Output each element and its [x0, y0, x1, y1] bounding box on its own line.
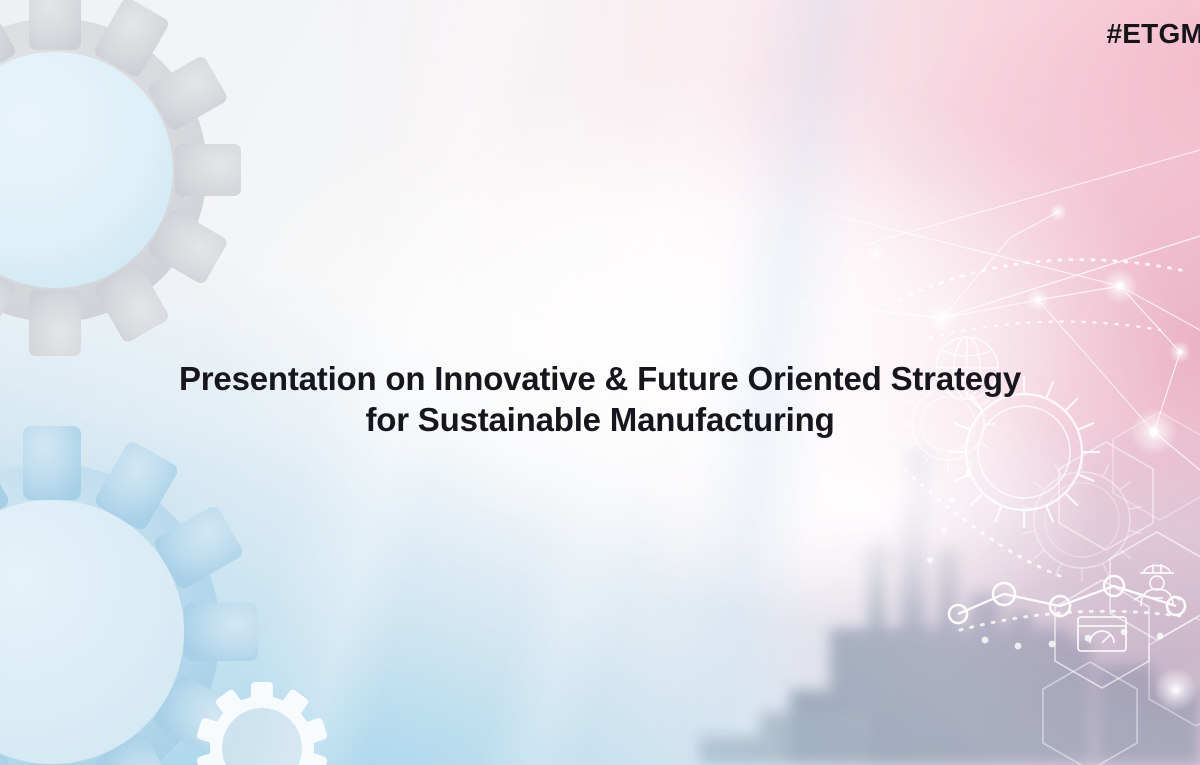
hexagon-tile-plain-lower	[1043, 662, 1137, 765]
event-hashtag: #ETGM	[1107, 18, 1200, 50]
title-line-2: for Sustainable Manufacturing	[40, 399, 1160, 440]
presentation-title-slide: #ETGM Presentation on Innovative & Futur…	[0, 0, 1200, 765]
title-line-1: Presentation on Innovative & Future Orie…	[40, 358, 1160, 399]
hexagon-tile-gauge	[1055, 580, 1149, 688]
hexagon-tile-plain-upper	[1059, 442, 1153, 550]
page-title: Presentation on Innovative & Future Orie…	[0, 358, 1200, 440]
gauge-dashboard-icon	[1078, 617, 1126, 651]
